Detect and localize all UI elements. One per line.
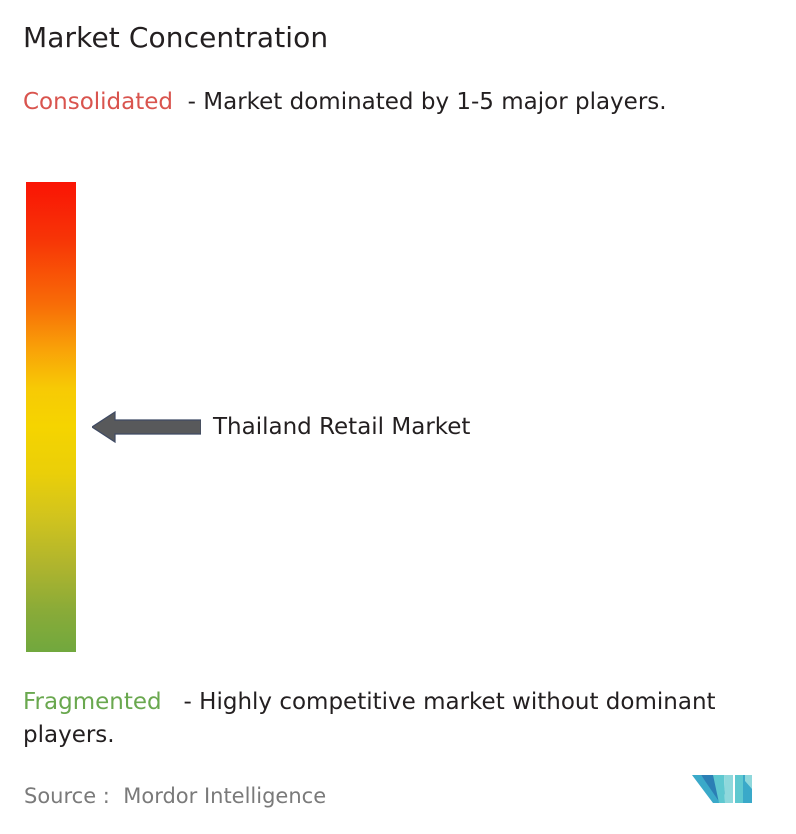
page-title: Market Concentration: [23, 20, 328, 56]
consolidated-keyword: Consolidated: [23, 89, 173, 115]
source-attribution: Source : Mordor Intelligence: [24, 782, 326, 810]
arrow-left-icon: [92, 409, 201, 445]
marker-label: Thailand Retail Market: [213, 412, 470, 442]
consolidated-separator: -: [173, 89, 203, 115]
consolidated-legend: Consolidated - Market dominated by 1-5 m…: [23, 86, 768, 119]
consolidated-description: Market dominated by 1-5 major players.: [203, 89, 666, 115]
fragmented-legend: Fragmented - Highly competitive market w…: [23, 686, 788, 752]
fragmented-separator: -: [162, 689, 200, 715]
market-concentration-gradient-bar: [26, 182, 76, 652]
fragmented-keyword: Fragmented: [23, 689, 162, 715]
mordor-intelligence-logo-icon: [692, 769, 764, 809]
